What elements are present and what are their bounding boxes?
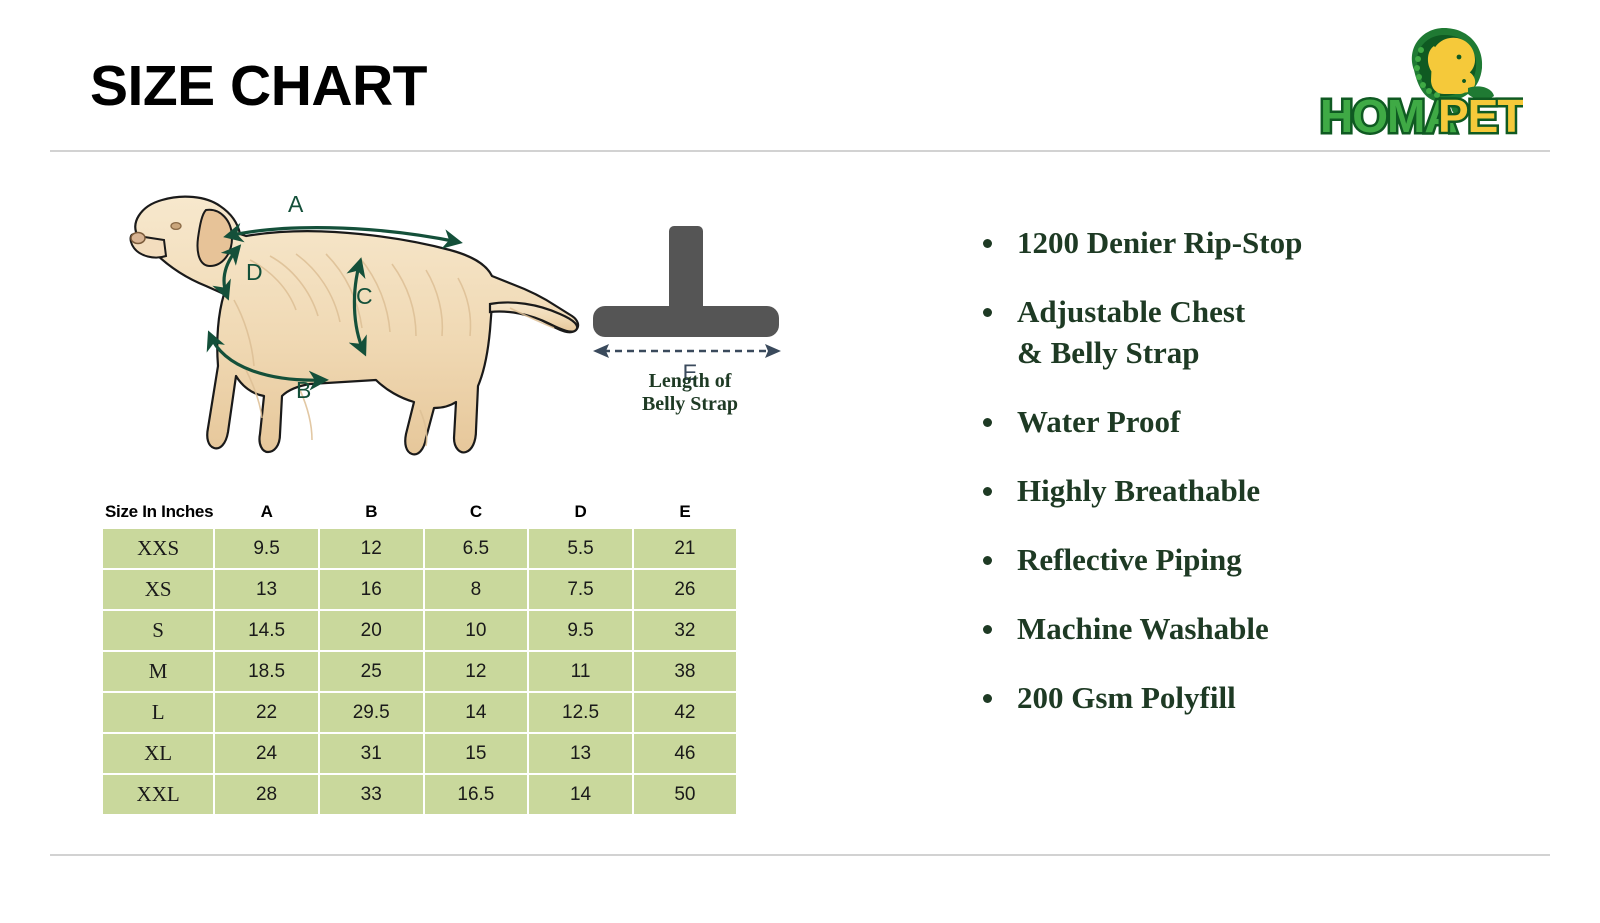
cell-b: 12	[320, 529, 423, 568]
bullet-dot-icon	[983, 418, 992, 427]
table-row: XXS9.5126.55.521	[103, 529, 736, 568]
table-header-row: Size In Inches A B C D E	[103, 497, 736, 527]
bullet-dot-icon	[983, 694, 992, 703]
bullet-dot-icon	[983, 625, 992, 634]
table-row: M18.525121138	[103, 652, 736, 691]
dog-measurement-illustration: A D C B	[120, 180, 590, 490]
cell-b: 33	[320, 775, 423, 814]
cell-a: 18.5	[215, 652, 318, 691]
strap-caption: Length of Belly Strap	[585, 370, 795, 416]
cell-size: S	[103, 611, 213, 650]
cell-e: 42	[634, 693, 736, 732]
column-header-size: Size In Inches	[103, 497, 213, 527]
strap-vertical	[669, 226, 703, 312]
svg-text:PET: PET	[1438, 90, 1523, 140]
cell-size: XXL	[103, 775, 213, 814]
cell-size: XXS	[103, 529, 213, 568]
strap-caption-line1: Length of	[585, 370, 795, 393]
cell-c: 14	[425, 693, 528, 732]
bullet-dot-icon	[983, 556, 992, 565]
table-row: XXL283316.51450	[103, 775, 736, 814]
logo-wordmark-pet: PET	[1438, 90, 1523, 140]
cell-e: 50	[634, 775, 736, 814]
cell-size: L	[103, 693, 213, 732]
cell-c: 8	[425, 570, 528, 609]
cell-e: 32	[634, 611, 736, 650]
cell-size: XL	[103, 734, 213, 773]
cell-c: 6.5	[425, 529, 528, 568]
cell-a: 13	[215, 570, 318, 609]
cell-e: 21	[634, 529, 736, 568]
feature-text-line1: Highly Breathable	[1017, 470, 1515, 511]
cell-e: 26	[634, 570, 736, 609]
footer-divider	[50, 854, 1550, 856]
cell-b: 29.5	[320, 693, 423, 732]
column-header-d: D	[529, 497, 632, 527]
page-header: SIZE CHART	[0, 0, 1600, 152]
feature-text-line1: Adjustable Chest	[1017, 291, 1515, 332]
logo-wordmark-homa: HOMA	[1320, 90, 1457, 140]
feature-item: Highly Breathable	[975, 470, 1515, 511]
feature-item: 200 Gsm Polyfill	[975, 677, 1515, 718]
feature-text-line1: Water Proof	[1017, 401, 1515, 442]
feature-item: Reflective Piping	[975, 539, 1515, 580]
cell-d: 11	[529, 652, 632, 691]
cell-d: 13	[529, 734, 632, 773]
feature-text-line1: 1200 Denier Rip-Stop	[1017, 222, 1515, 263]
feature-text-line2: & Belly Strap	[1017, 332, 1515, 373]
cell-d: 7.5	[529, 570, 632, 609]
feature-text-line1: Reflective Piping	[1017, 539, 1515, 580]
svg-text:HOMA: HOMA	[1320, 90, 1457, 140]
cell-e: 38	[634, 652, 736, 691]
cell-d: 5.5	[529, 529, 632, 568]
cell-a: 22	[215, 693, 318, 732]
cell-b: 16	[320, 570, 423, 609]
label-c: C	[356, 283, 373, 309]
cell-c: 16.5	[425, 775, 528, 814]
cell-c: 15	[425, 734, 528, 773]
column-header-c: C	[425, 497, 528, 527]
table-row: L2229.51412.542	[103, 693, 736, 732]
feature-item: 1200 Denier Rip-Stop	[975, 222, 1515, 263]
label-b: B	[296, 377, 311, 403]
dog-eye	[171, 223, 181, 230]
feature-item: Machine Washable	[975, 608, 1515, 649]
table-row: XL2431151346	[103, 734, 736, 773]
table-row: S14.520109.532	[103, 611, 736, 650]
cell-b: 20	[320, 611, 423, 650]
label-d: D	[246, 259, 263, 285]
features-list: 1200 Denier Rip-StopAdjustable Chest& Be…	[975, 222, 1515, 746]
strap-horizontal	[593, 306, 779, 337]
dog-ear	[198, 210, 233, 266]
page-title: SIZE CHART	[90, 58, 427, 115]
cell-c: 12	[425, 652, 528, 691]
cell-d: 12.5	[529, 693, 632, 732]
cell-b: 31	[320, 734, 423, 773]
cell-d: 9.5	[529, 611, 632, 650]
strap-caption-line2: Belly Strap	[585, 393, 795, 416]
dog-nose	[131, 233, 145, 244]
column-header-e: E	[634, 497, 736, 527]
dog-tail	[490, 302, 577, 331]
cell-d: 14	[529, 775, 632, 814]
feature-item: Water Proof	[975, 401, 1515, 442]
header-divider	[50, 150, 1550, 152]
cell-b: 25	[320, 652, 423, 691]
column-header-a: A	[215, 497, 318, 527]
cell-a: 24	[215, 734, 318, 773]
brand-logo: HOMA PET	[1318, 22, 1523, 140]
cell-a: 9.5	[215, 529, 318, 568]
bullet-dot-icon	[983, 308, 992, 317]
feature-text-line1: 200 Gsm Polyfill	[1017, 677, 1515, 718]
table-row: XS131687.526	[103, 570, 736, 609]
feature-text-line1: Machine Washable	[1017, 608, 1515, 649]
size-chart-table: Size In Inches A B C D E XXS9.5126.55.52…	[101, 495, 738, 816]
bullet-dot-icon	[983, 239, 992, 248]
cell-a: 14.5	[215, 611, 318, 650]
column-header-b: B	[320, 497, 423, 527]
cell-size: XS	[103, 570, 213, 609]
feature-item: Adjustable Chest& Belly Strap	[975, 291, 1515, 373]
strap-dimension-arrow	[593, 344, 781, 358]
label-a: A	[288, 191, 304, 217]
bullet-dot-icon	[983, 487, 992, 496]
cell-a: 28	[215, 775, 318, 814]
cell-size: M	[103, 652, 213, 691]
cell-e: 46	[634, 734, 736, 773]
cell-c: 10	[425, 611, 528, 650]
